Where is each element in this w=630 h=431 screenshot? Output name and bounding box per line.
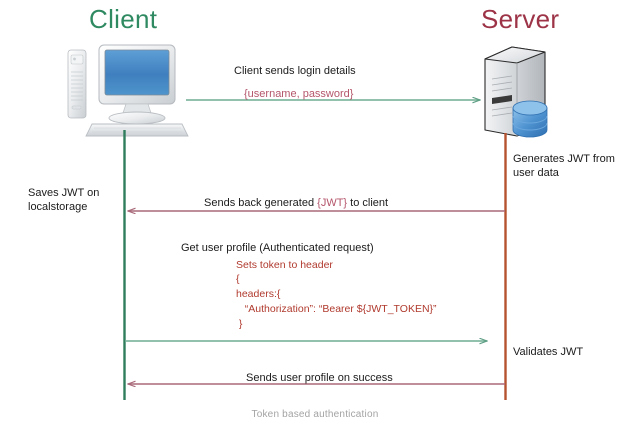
label-login-request-line1: Client sends login details	[234, 64, 356, 78]
note-saves-jwt: Saves JWT on localstorage	[28, 186, 148, 214]
label-jwt-response: Sends back generated {JWT} to client	[204, 196, 388, 210]
profile-request-code-line-0: Sets token to header	[236, 258, 333, 273]
label-jwt-response-suffix: to client	[347, 197, 388, 209]
label-jwt-response-token: {JWT}	[317, 197, 347, 209]
desktop-computer-icon	[68, 45, 188, 136]
profile-request-code-line-3: “Authorization”: “Bearer ${JWT_TOKEN}”	[236, 302, 437, 317]
note-generates-jwt: Generates JWT from user data	[513, 152, 630, 180]
label-profile-response: Sends user profile on success	[246, 371, 393, 385]
profile-request-code-line-2: headers:{	[236, 287, 280, 302]
database-cylinder-icon	[513, 101, 547, 137]
note-validates-jwt: Validates JWT	[513, 345, 630, 359]
label-login-request-line2: {username, password}	[244, 87, 353, 101]
profile-request-code-line-4: }	[236, 317, 242, 332]
diagram-caption: Token based authentication	[0, 409, 630, 420]
label-jwt-response-prefix: Sends back generated	[204, 197, 317, 209]
profile-request-code-line-1: {	[236, 272, 240, 287]
token-authentication-diagram: Client Server	[0, 0, 630, 431]
label-profile-request-title: Get user profile (Authenticated request)	[181, 241, 374, 255]
